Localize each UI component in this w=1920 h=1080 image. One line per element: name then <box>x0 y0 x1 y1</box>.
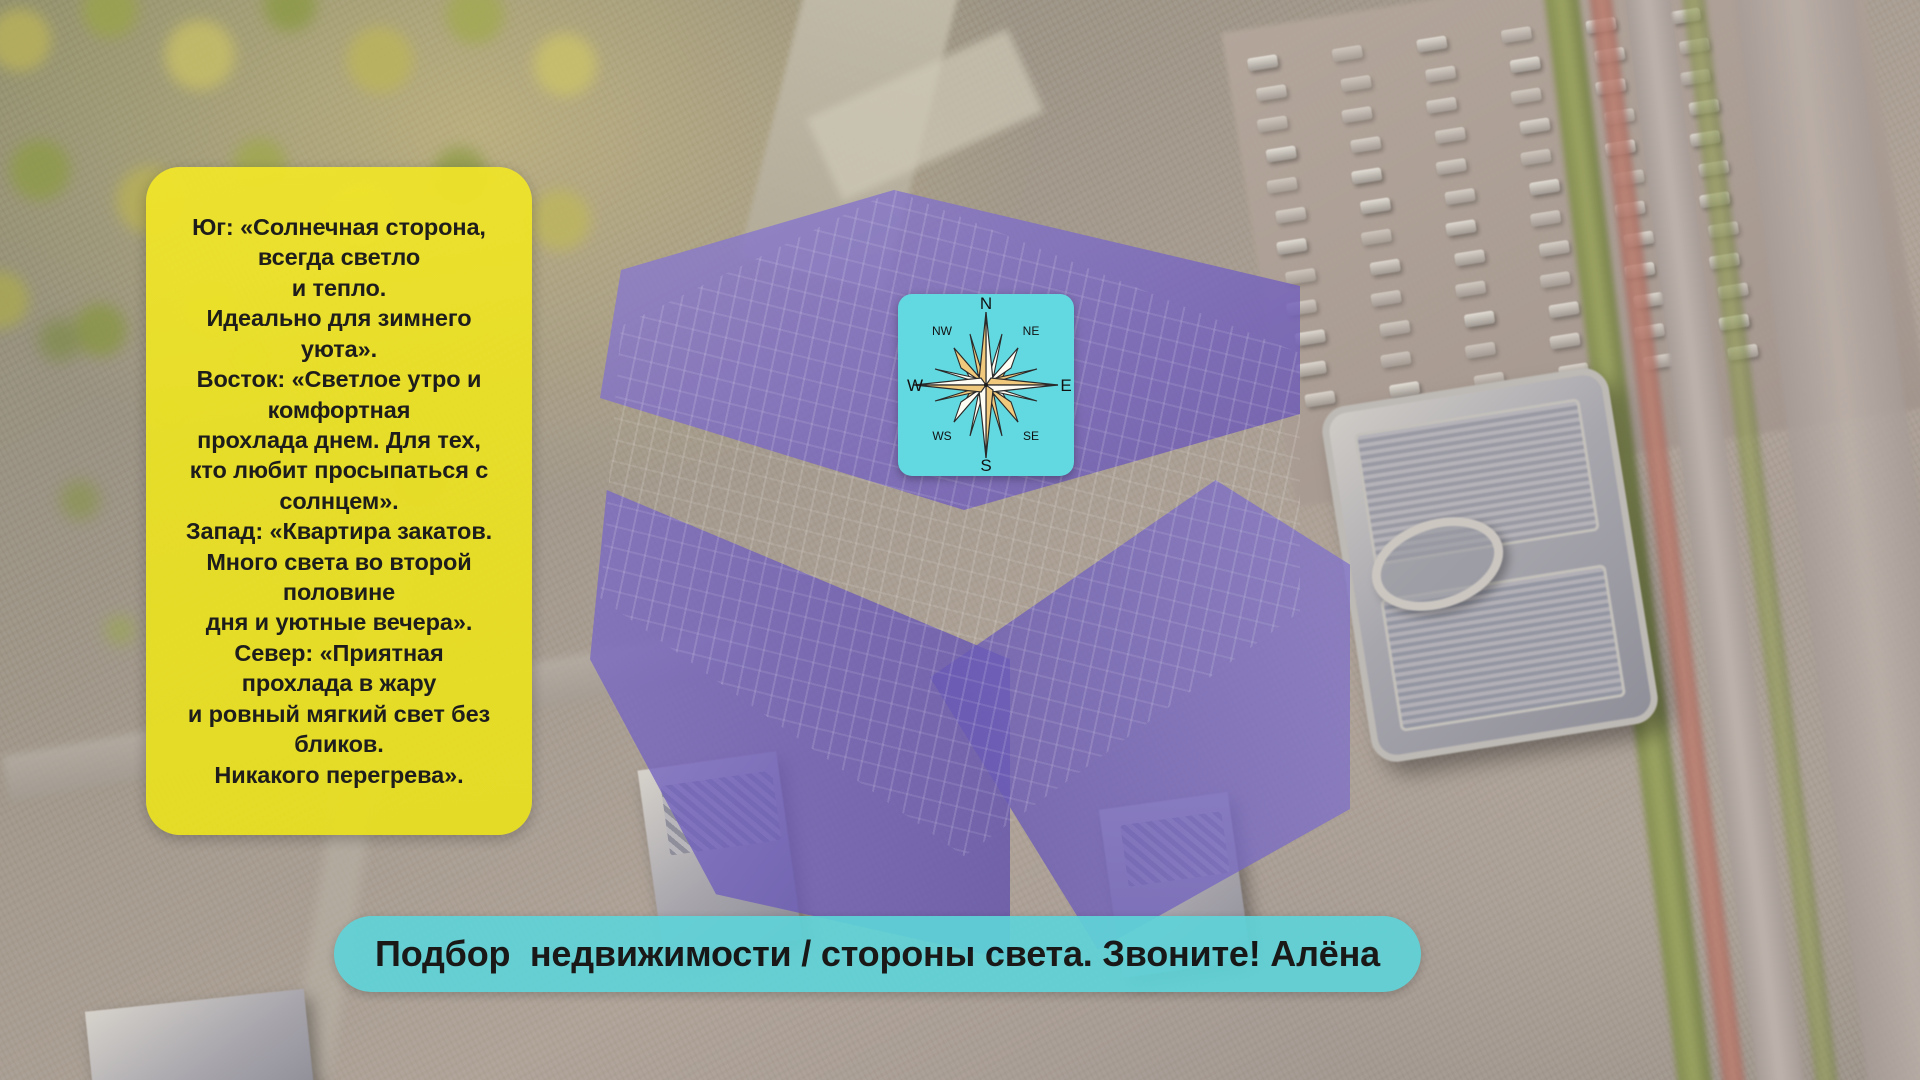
parked-car <box>1360 197 1392 215</box>
orientation-info-text: Юг: «Солнечная сторона, всегда светло и … <box>172 206 506 796</box>
parked-car <box>1501 26 1533 44</box>
parked-car <box>1425 65 1457 83</box>
parked-car <box>1464 310 1496 328</box>
parked-car <box>1369 258 1401 276</box>
parked-car <box>1510 87 1542 105</box>
parked-car <box>1247 54 1279 72</box>
parked-car <box>1509 56 1541 74</box>
parked-car <box>1519 117 1551 135</box>
parked-car <box>1445 219 1477 237</box>
parked-car <box>1454 249 1486 267</box>
parked-car <box>1257 115 1289 133</box>
orientation-info-card: Юг: «Солнечная сторона, всегда светло и … <box>146 167 532 835</box>
compass-rose-card[interactable]: N NE E SE S WS W NW <box>898 294 1074 476</box>
parked-car <box>1350 136 1382 154</box>
compass-label-e: E <box>1060 376 1071 395</box>
parked-car <box>1444 188 1476 206</box>
poster-canvas: N NE E SE S WS W NW Юг: «Солнечная сторо… <box>0 0 1920 1080</box>
contact-banner[interactable]: Подбор недвижимости / стороны света. Зво… <box>334 916 1421 992</box>
contact-banner-text: Подбор недвижимости / стороны света. Зво… <box>375 933 1380 975</box>
parked-car <box>1351 167 1383 185</box>
parked-car <box>1529 178 1561 196</box>
parked-car <box>1549 332 1581 350</box>
compass-rose-icon: N NE E SE S WS W NW <box>898 294 1074 476</box>
compass-label-nw: NW <box>932 324 953 338</box>
parked-car <box>1304 390 1336 408</box>
parked-car <box>1539 240 1571 258</box>
parked-car <box>1435 127 1467 145</box>
compass-label-s: S <box>980 456 991 475</box>
parked-car <box>1331 45 1363 63</box>
parked-car <box>1295 360 1327 378</box>
parked-car <box>1465 342 1497 360</box>
parked-car <box>1530 210 1562 228</box>
parked-car <box>1379 320 1411 338</box>
parked-car <box>1265 145 1297 163</box>
parked-car <box>1426 97 1458 115</box>
compass-label-se: SE <box>1023 429 1039 443</box>
compass-label-w: W <box>907 376 923 395</box>
compass-label-ws: WS <box>932 429 951 443</box>
parked-car <box>1455 280 1487 298</box>
parked-car <box>1340 75 1372 93</box>
compass-label-ne: NE <box>1023 324 1040 338</box>
parked-car <box>1520 148 1552 166</box>
parked-car <box>1416 35 1448 53</box>
parked-car <box>1341 106 1373 124</box>
parked-car <box>1380 351 1412 369</box>
parked-car <box>1539 271 1571 289</box>
highlighted-building <box>600 190 1300 870</box>
compass-label-n: N <box>980 294 992 313</box>
parked-car <box>1435 158 1467 176</box>
parked-car <box>1256 84 1288 102</box>
parked-car <box>1548 301 1580 319</box>
parked-car <box>1361 228 1393 246</box>
parked-car <box>1370 290 1402 308</box>
